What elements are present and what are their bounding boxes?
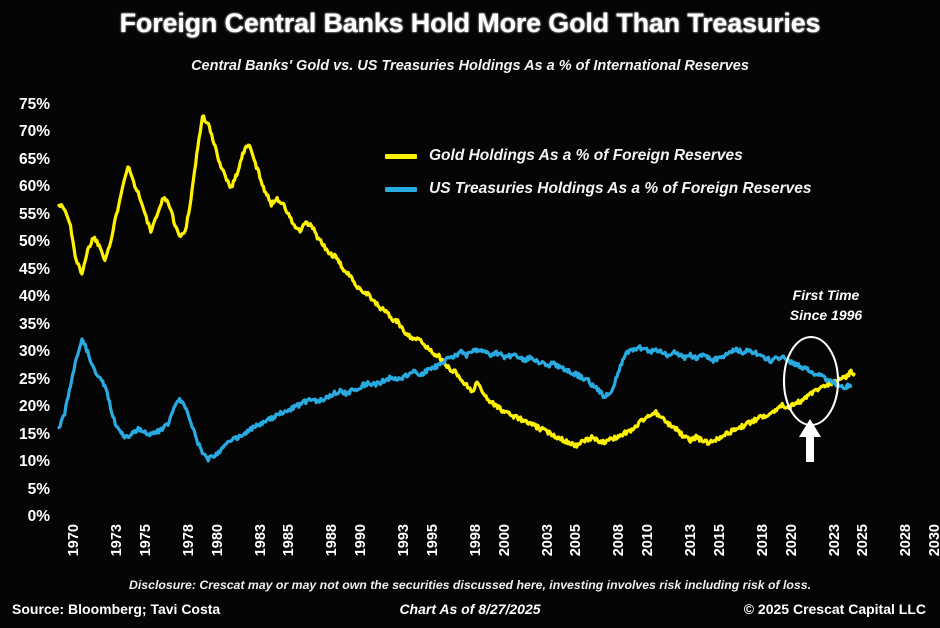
y-axis-tick-label: 15% [2,426,50,444]
x-axis-tick-label: 2018 [755,524,771,556]
y-axis-tick-label: 75% [2,96,50,114]
chart-subtitle: Central Banks' Gold vs. US Treasuries Ho… [0,58,940,74]
x-axis-tick-label: 1998 [468,524,484,556]
x-axis-tick-label: 1988 [324,524,340,556]
y-axis-tick-label: 55% [2,206,50,224]
x-axis-tick-label: 2000 [497,524,513,556]
legend-label: Gold Holdings As a % of Foreign Reserves [429,147,743,165]
x-axis-tick-label: 1970 [66,524,82,556]
chart-title: Foreign Central Banks Hold More Gold Tha… [0,8,940,39]
legend-item: Gold Holdings As a % of Foreign Reserves [385,143,811,169]
x-axis-tick-label: 2015 [712,524,728,556]
x-axis-tick-label: 1975 [138,524,154,556]
x-axis-tick-label: 2013 [683,524,699,556]
x-axis-tick-label: 2025 [855,524,871,556]
x-axis-tick-label: 2028 [898,524,914,556]
x-axis-tick-label: 1993 [396,524,412,556]
y-axis-tick-label: 35% [2,316,50,334]
x-axis-tick-label: 2005 [568,524,584,556]
y-axis-tick-label: 45% [2,261,50,279]
x-axis-tick-label: 1995 [425,524,441,556]
legend-item: US Treasuries Holdings As a % of Foreign… [385,176,811,202]
series-line-treasuries [59,339,851,461]
legend-label: US Treasuries Holdings As a % of Foreign… [429,180,811,198]
y-axis-tick-label: 20% [2,398,50,416]
x-axis-tick-label: 1990 [353,524,369,556]
x-axis-tick-label: 2003 [540,524,556,556]
y-axis-tick-label: 40% [2,288,50,306]
y-axis-tick-label: 50% [2,233,50,251]
y-axis-tick-label: 10% [2,453,50,471]
disclosure-text: Disclosure: Crescat may or may not own t… [0,578,940,592]
annotation-line-1: First Time [766,286,886,306]
legend-swatch-treasuries-icon [385,187,417,192]
chart-container: Foreign Central Banks Hold More Gold Tha… [0,0,940,628]
x-axis-tick-label: 1973 [109,524,125,556]
legend-swatch-gold-icon [385,154,417,159]
x-axis-tick-label: 1980 [210,524,226,556]
annotation-first-time-since-1996: First Time Since 1996 [766,286,886,326]
y-axis-tick-label: 70% [2,123,50,141]
legend: Gold Holdings As a % of Foreign Reserves… [385,143,811,209]
x-axis-tick-label: 2023 [827,524,843,556]
y-axis-tick-label: 0% [2,508,50,526]
annotation-line-2: Since 1996 [766,306,886,326]
y-axis-tick-label: 5% [2,481,50,499]
y-axis-tick-label: 25% [2,371,50,389]
y-axis-tick-label: 60% [2,178,50,196]
x-axis-tick-label: 1985 [281,524,297,556]
y-axis-tick-label: 30% [2,343,50,361]
x-axis-tick-label: 2020 [784,524,800,556]
x-axis-tick-label: 2008 [611,524,627,556]
x-axis-tick-label: 1978 [181,524,197,556]
y-axis-tick-label: 65% [2,151,50,169]
copyright-text: © 2025 Crescat Capital LLC [744,601,926,617]
x-axis-tick-label: 1983 [253,524,269,556]
x-axis-tick-label: 2010 [640,524,656,556]
x-axis-tick-label: 2030 [927,524,940,556]
